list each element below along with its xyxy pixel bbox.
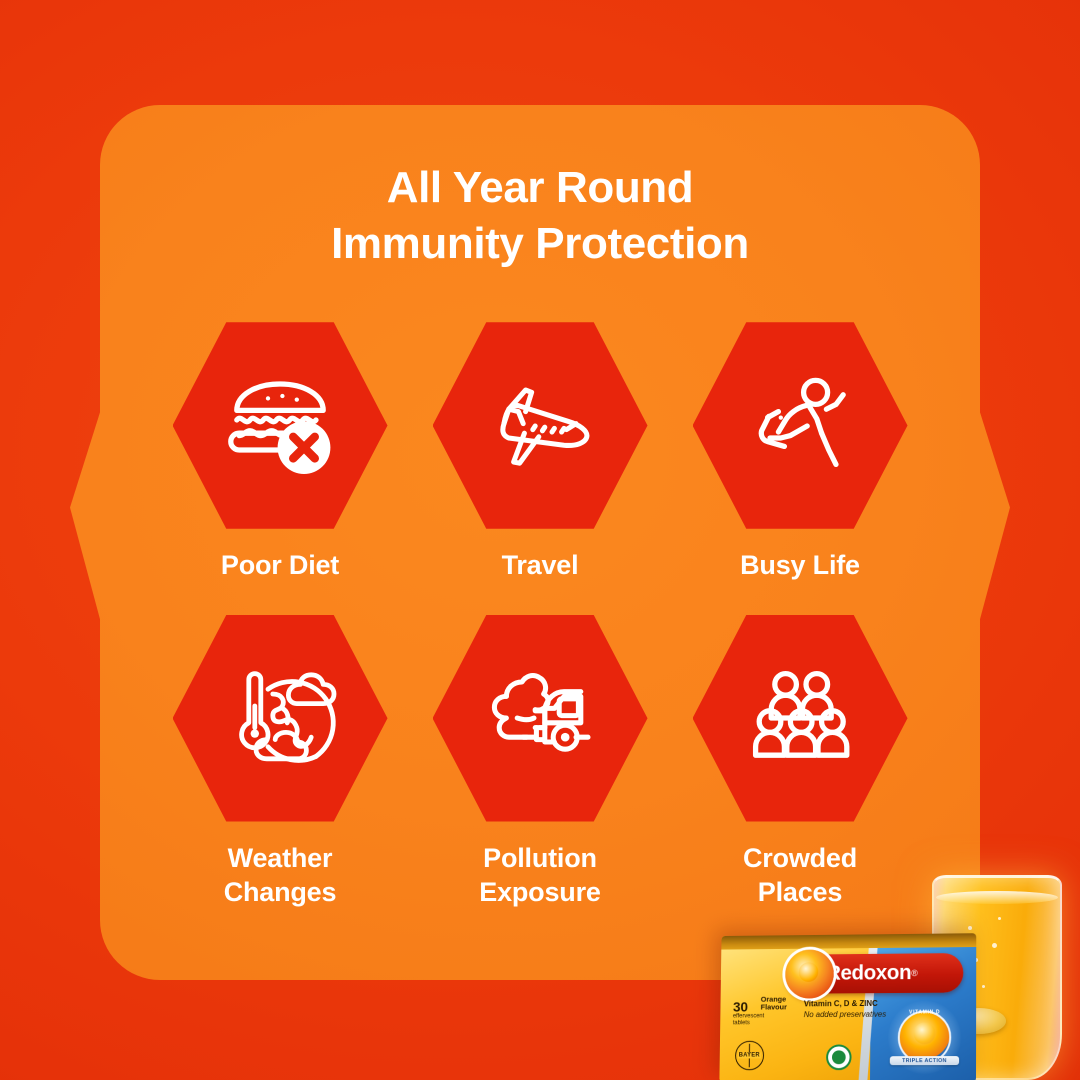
form-line-2: tablets [733, 1020, 750, 1026]
bubble-icon [998, 917, 1001, 920]
poster-canvas: All Year Round Immunity Protection Poo [0, 0, 1080, 1080]
bayer-label: BAYER [738, 1053, 761, 1059]
factor-label: Weather Changes [224, 842, 337, 910]
hexagon-tile [173, 611, 388, 826]
hexagon-tile [433, 318, 648, 533]
factor-label: Poor Diet [221, 549, 339, 583]
airplane-icon [480, 366, 600, 486]
factor-card-travel[interactable]: Travel [410, 318, 670, 583]
badge-core-icon [914, 1023, 936, 1045]
factor-card-busy-life[interactable]: Busy Life [670, 318, 930, 583]
group-of-people-icon [740, 658, 860, 778]
claim-line: No added preservatives [804, 1010, 887, 1019]
brand-logo: Redoxon ® [799, 953, 963, 994]
redoxon-swirl-icon [785, 949, 834, 998]
halal-certification-icon [826, 1044, 852, 1070]
title-line-1: All Year Round [387, 163, 694, 212]
running-person-briefcase-icon [740, 366, 860, 486]
hexagon-tile [693, 611, 908, 826]
hexagon-tile [693, 318, 908, 533]
bubble-icon [992, 943, 997, 948]
title-line-2: Immunity Protection [100, 216, 980, 272]
tablet-count: 30 [733, 1000, 748, 1014]
triple-action-badge: VITAMIN D TRIPLE ACTION [894, 1006, 956, 1068]
truck-exhaust-smoke-icon [480, 658, 600, 778]
ingredients-text: Vitamin C, D & ZINC No added preservativ… [804, 999, 887, 1021]
factor-card-weather-changes[interactable]: Weather Changes [150, 611, 410, 910]
hexagon-tile [433, 611, 648, 826]
factor-card-poor-diet[interactable]: Poor Diet [150, 318, 410, 583]
globe-thermometer-cloud-icon [220, 658, 340, 778]
immunity-factors-grid: Poor Diet Travel [150, 318, 930, 909]
flavour-text: Orange Flavour [761, 996, 787, 1013]
factor-card-pollution-exposure[interactable]: Pollution Exposure [410, 611, 670, 910]
product-shot: Redoxon ® 30 Orange Flavour effervescent… [680, 845, 1080, 1080]
brand-name: Redoxon [826, 961, 911, 985]
factor-label: Pollution Exposure [479, 842, 600, 910]
ingredients-line: Vitamin C, D & ZINC [804, 999, 878, 1008]
form-text: effervescent tablets [733, 1013, 765, 1027]
bubble-icon [982, 985, 985, 988]
trademark-symbol: ® [911, 968, 918, 978]
burger-no-icon [220, 366, 340, 486]
page-title: All Year Round Immunity Protection [100, 160, 980, 273]
flavour-line-2: Flavour [761, 1003, 787, 1012]
factor-label: Busy Life [740, 549, 860, 583]
product-box: Redoxon ® 30 Orange Flavour effervescent… [719, 933, 976, 1080]
factor-label: Travel [502, 549, 579, 583]
form-line-1: effervescent [733, 1013, 764, 1019]
badge-top-text: VITAMIN D [894, 1009, 955, 1015]
bayer-logo: BAYER [735, 1041, 764, 1070]
badge-bottom-text: TRIPLE ACTION [890, 1056, 959, 1065]
hexagon-tile [173, 318, 388, 533]
bubble-icon [968, 926, 972, 930]
liquid-surface [936, 891, 1058, 904]
